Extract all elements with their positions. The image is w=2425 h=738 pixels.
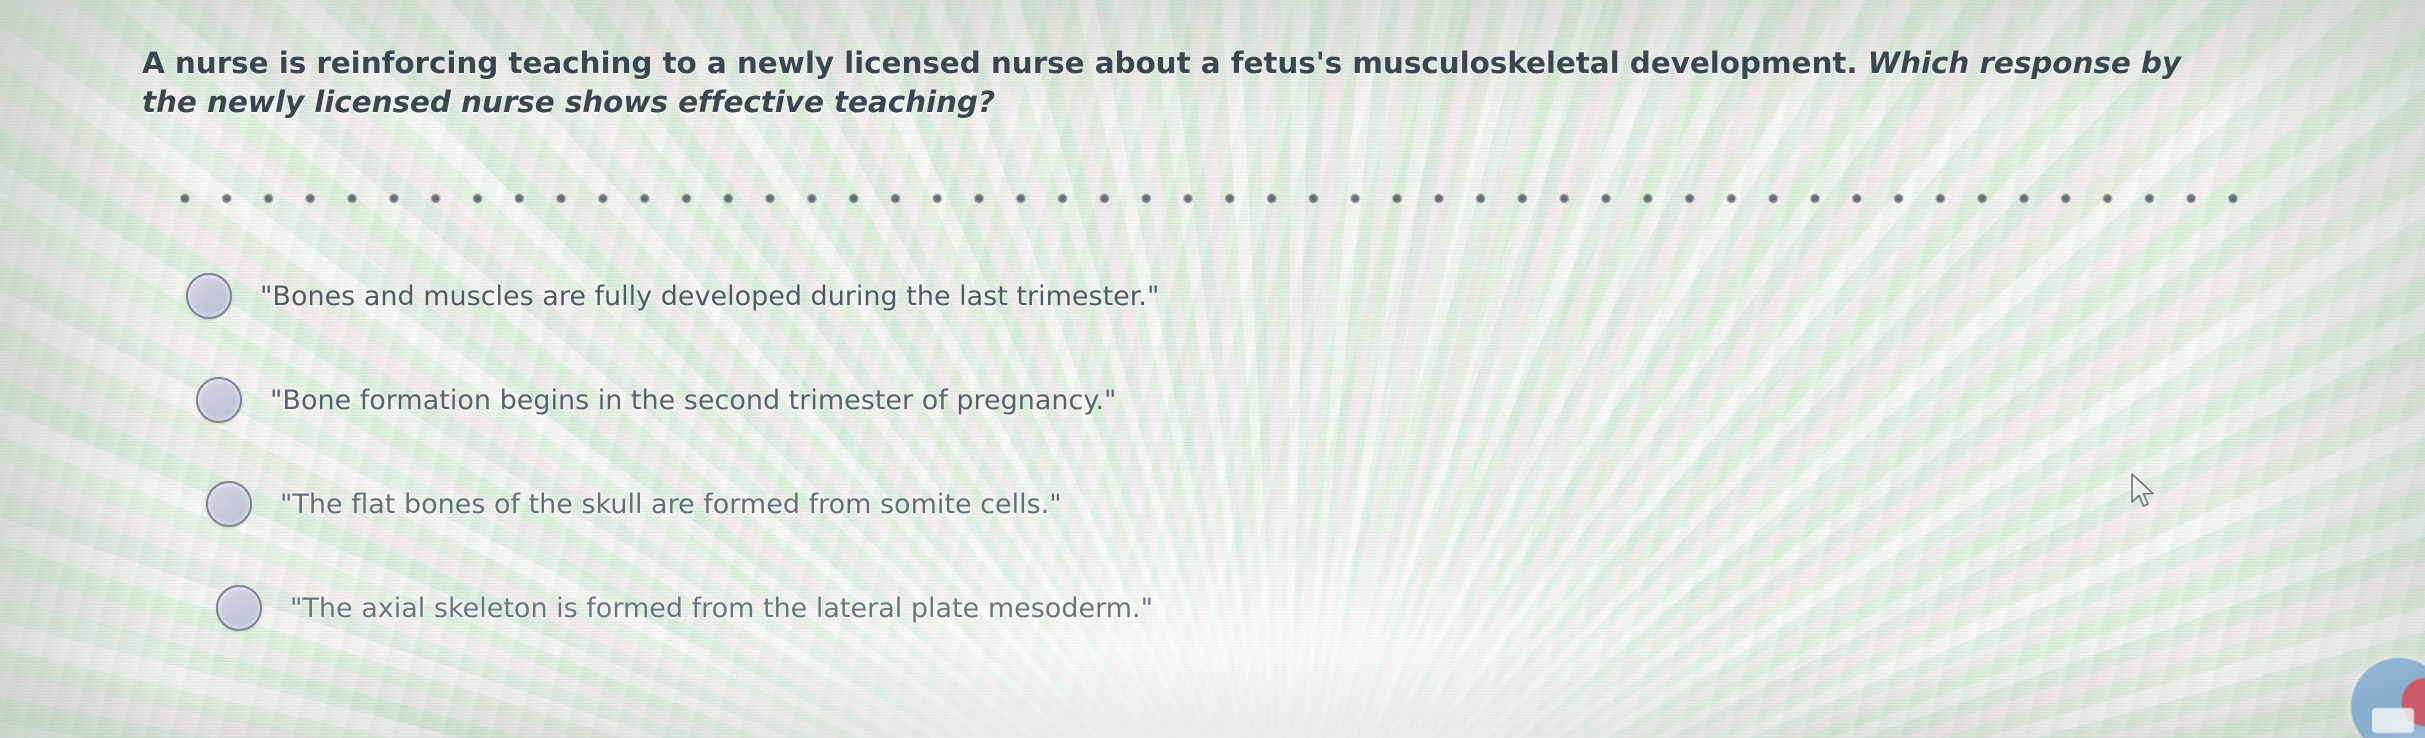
radio-button-icon-3[interactable] <box>206 481 252 527</box>
answer-option-4[interactable]: "The axial skeleton is formed from the l… <box>0 584 2425 632</box>
answer-option-2[interactable]: "Bone formation begins in the second tri… <box>0 376 2425 424</box>
question-lead-text: A nurse is reinforcing teaching to a new… <box>142 46 1857 80</box>
answer-option-label-1: "Bones and muscles are fully developed d… <box>260 281 1159 312</box>
answer-options-list: "Bones and muscles are fully developed d… <box>0 272 2425 688</box>
radio-button-icon-1[interactable] <box>186 273 232 319</box>
answer-option-label-3: "The flat bones of the skull are formed … <box>280 489 1062 520</box>
radio-button-icon-2[interactable] <box>196 377 242 423</box>
quiz-screen: A nurse is reinforcing teaching to a new… <box>0 0 2425 738</box>
question-stem: A nurse is reinforcing teaching to a new… <box>142 44 2212 122</box>
question-content: A nurse is reinforcing teaching to a new… <box>0 0 2425 738</box>
radio-button-icon-4[interactable] <box>216 585 262 631</box>
dotted-divider <box>164 193 2246 205</box>
answer-option-label-4: "The axial skeleton is formed from the l… <box>290 593 1153 624</box>
answer-option-1[interactable]: "Bones and muscles are fully developed d… <box>0 272 2425 320</box>
answer-option-3[interactable]: "The flat bones of the skull are formed … <box>0 480 2425 528</box>
answer-option-label-2: "Bone formation begins in the second tri… <box>270 385 1116 416</box>
